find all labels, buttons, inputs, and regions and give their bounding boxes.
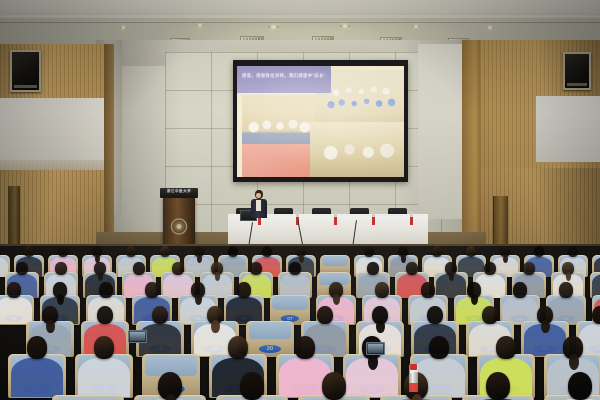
audience-area: 0102030405060708091011121314151617181920… <box>0 246 600 400</box>
ceiling-downlight-icon <box>268 25 279 29</box>
ceiling-downlight-icon <box>486 26 494 29</box>
table-microphone-icon <box>372 212 375 225</box>
ceiling-downlight-icon <box>340 24 350 28</box>
ceiling-downlight-icon <box>196 24 204 27</box>
audience-laptop[interactable] <box>128 330 147 343</box>
presentation-slide: 感恩，感谢各位讲师，我们感恩中“成长” <box>237 66 404 177</box>
audience-laptop[interactable] <box>366 342 385 355</box>
ceiling-seam <box>0 22 600 23</box>
slide-title-text: 感恩，感谢各位讲师，我们感恩中“成长” <box>242 73 326 79</box>
audience-props <box>0 246 600 400</box>
projection-screen-surface: 感恩，感谢各位讲师，我们感恩中“成长” <box>237 66 404 177</box>
lectern-top: 浙江中医大学 <box>160 188 198 198</box>
university-emblem-icon <box>171 218 188 235</box>
ceiling-downlight-icon <box>412 25 420 28</box>
slide-color-block <box>242 144 310 177</box>
presenter-face <box>256 193 261 198</box>
wall-speaker-right-icon <box>563 52 591 90</box>
wall-speaker-left-icon <box>10 50 41 92</box>
presenter-shirt <box>256 200 261 211</box>
auditorium-photo: 感恩，感谢各位讲师，我们感恩中“成长” 浙江中医大学 010 <box>0 0 600 400</box>
lectern-nameplate: 浙江中医大学 <box>162 189 196 194</box>
ceiling-downlight-icon <box>120 26 127 29</box>
table-microphone-icon <box>410 212 413 225</box>
left-wall-edge <box>104 44 114 260</box>
lectern: 浙江中医大学 <box>163 196 195 244</box>
slide-photo-bottom-right <box>310 122 404 178</box>
left-wall-light-band <box>0 98 108 160</box>
projection-screen: 感恩，感谢各位讲师，我们感恩中“成长” <box>233 60 408 182</box>
presenter <box>250 190 268 218</box>
table-microphone-icon <box>334 212 337 225</box>
slide-title-bar <box>237 66 331 93</box>
water-bottle[interactable] <box>409 364 418 392</box>
right-wall-light-band <box>418 44 464 219</box>
ceiling-soffit <box>0 0 600 15</box>
right-wall-panel-insert <box>536 96 600 162</box>
